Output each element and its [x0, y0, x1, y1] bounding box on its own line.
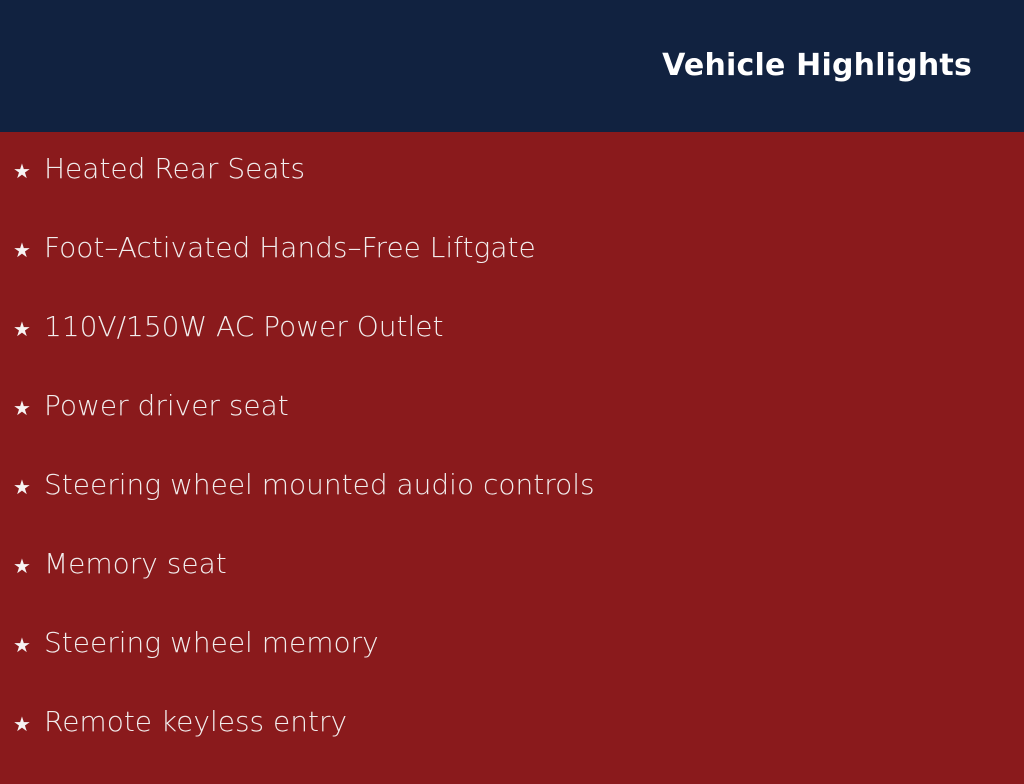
slide-header: Vehicle Highlights: [0, 0, 1024, 132]
list-item-label: Power driver seat: [44, 389, 289, 423]
vehicle-highlights-list: ★ Heated Rear Seats ★ Foot–Activated Han…: [13, 152, 984, 784]
star-bullet-icon: ★: [13, 312, 44, 346]
list-item: ★ Memory seat: [13, 547, 984, 626]
star-bullet-icon: ★: [13, 628, 44, 662]
list-item-label: Memory seat: [44, 547, 227, 581]
list-item-label: 110V/150W AC Power Outlet: [44, 310, 443, 344]
star-bullet-icon: ★: [13, 154, 44, 188]
list-item: ★ Steering wheel memory: [13, 626, 984, 705]
list-item-label: Heated Rear Seats: [44, 152, 305, 186]
slide-body: ★ Heated Rear Seats ★ Foot–Activated Han…: [0, 132, 1024, 784]
star-bullet-icon: ★: [13, 549, 44, 583]
list-item: ★ Foot–Activated Hands–Free Liftgate: [13, 231, 984, 310]
page-title: Vehicle Highlights: [662, 51, 972, 81]
star-bullet-icon: ★: [13, 391, 44, 425]
list-item: ★ 110V/150W AC Power Outlet: [13, 310, 984, 389]
list-item-label: Foot–Activated Hands–Free Liftgate: [44, 231, 536, 265]
list-item: ★ Heated Rear Seats: [13, 152, 984, 231]
star-bullet-icon: ★: [13, 233, 44, 267]
list-item-label: Steering wheel memory: [44, 626, 379, 660]
list-item: ★ Steering wheel mounted audio controls: [13, 468, 984, 547]
slide: Vehicle Highlights ★ Heated Rear Seats ★…: [0, 0, 1024, 768]
list-item-label: Steering wheel mounted audio controls: [44, 468, 595, 502]
star-bullet-icon: ★: [13, 470, 44, 504]
list-item-label: Remote keyless entry: [44, 705, 347, 739]
star-bullet-icon: ★: [13, 707, 44, 741]
list-item: ★ Power driver seat: [13, 389, 984, 468]
list-item: ★ Remote keyless entry: [13, 705, 984, 784]
